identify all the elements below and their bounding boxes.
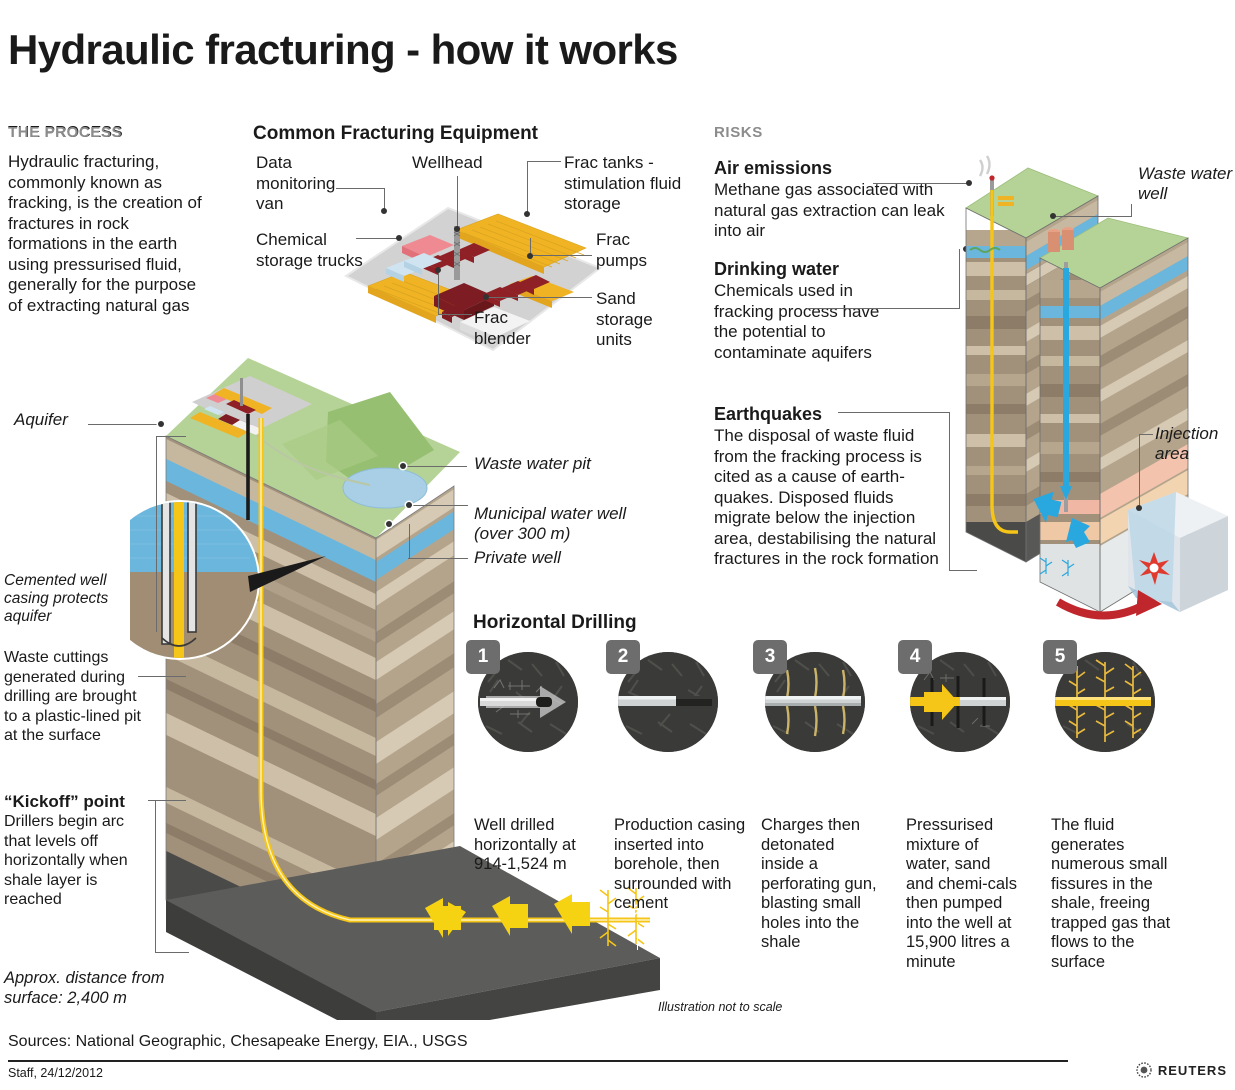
step-caption-4: Pressurised mixture of water, sand and c… — [906, 816, 1018, 972]
leader-dot — [386, 521, 392, 527]
label-frac-tanks: Frac tanks - stimulation fluid storage — [564, 153, 694, 215]
drilling-step-2: 2 Production casing inserted into boreho… — [606, 640, 718, 752]
leader-line — [438, 270, 439, 314]
leader-line — [88, 424, 160, 425]
step-number-badge: 1 — [466, 640, 500, 674]
leader-dot — [527, 253, 533, 259]
leader-line — [711, 922, 712, 946]
leader-line — [156, 436, 157, 632]
leader-line — [155, 952, 189, 953]
reuters-globe-icon — [1136, 1062, 1152, 1078]
page-title: Hydraulic fracturing - how it works — [8, 26, 678, 74]
leader-dot — [524, 211, 530, 217]
leader-dot — [454, 226, 460, 232]
reuters-wordmark: REUTERS — [1158, 1063, 1227, 1078]
label-aquifer: Aquifer — [14, 410, 68, 430]
leader-line — [408, 558, 468, 559]
equipment-heading: Common Fracturing Equipment — [253, 123, 538, 145]
leader-line — [1131, 204, 1132, 217]
process-heading: THE PROCESS — [8, 124, 122, 141]
step-number-badge: 2 — [606, 640, 640, 674]
step-number-badge: 4 — [898, 640, 932, 674]
leader-line — [527, 161, 561, 162]
leader-dot — [158, 421, 164, 427]
leader-dot — [381, 208, 387, 214]
leader-line — [486, 297, 592, 298]
label-chemical-storage-trucks: Chemical storage trucks — [256, 230, 366, 271]
risks-heading: RISKS — [714, 124, 763, 141]
leader-dot — [400, 463, 406, 469]
leader-line — [409, 524, 410, 559]
risk-body-drinking-water: Chemicals used in fracking process have … — [714, 281, 890, 363]
label-waste-water-pit: Waste water pit — [474, 454, 591, 474]
leader-line — [356, 238, 398, 239]
leader-line — [156, 436, 186, 437]
leader-line — [530, 255, 592, 256]
leader-line — [1053, 216, 1131, 217]
staff-line: Staff, 24/12/2012 — [8, 1066, 103, 1080]
step-caption-5: The fluid generates numerous small fissu… — [1051, 816, 1173, 972]
step-caption-3: Charges then detonated inside a perforat… — [761, 816, 877, 953]
label-frac-pumps: Frac pumps — [596, 230, 682, 271]
leader-dot — [1050, 213, 1056, 219]
leader-line — [384, 188, 385, 210]
leader-line — [838, 412, 950, 413]
sources-line: Sources: National Geographic, Chesapeake… — [8, 1033, 468, 1051]
leader-line — [155, 800, 156, 952]
label-kickoff-body: Drillers begin arc that levels off horiz… — [4, 812, 154, 910]
drilling-step-1: 1 Well drilled horizontally at 914-1,52 — [466, 640, 578, 752]
step-caption-2: Production casing inserted into borehole… — [614, 816, 754, 914]
step-number-badge: 3 — [753, 640, 787, 674]
risk-body-earthquakes: The disposal of waste fluid from the fra… — [714, 426, 952, 570]
leader-line — [1139, 434, 1140, 508]
leader-line — [336, 188, 384, 189]
label-waste-cuttings: Waste cuttings generated during drilling… — [4, 648, 154, 746]
leader-dot — [1136, 505, 1142, 511]
leader-line — [405, 466, 467, 467]
label-injection-area: Injection area — [1155, 424, 1233, 464]
drilling-step-5: 5 — [1043, 640, 1155, 752]
leader-line — [807, 308, 960, 309]
label-wellhead: Wellhead — [412, 153, 483, 174]
risks-geology-illustration — [940, 150, 1235, 635]
label-municipal-water-well: Municipal water well (over 300 m) — [474, 504, 664, 544]
drilling-step-3: 3 Charges then detonated inside a perfor… — [753, 640, 865, 752]
leader-line — [412, 505, 468, 506]
leader-dot — [396, 235, 402, 241]
label-kickoff-title: “Kickoff” point — [4, 792, 125, 812]
leader-line — [457, 176, 458, 228]
label-data-monitoring-van: Data monitoring van — [256, 153, 366, 215]
step-caption-1: Well drilled horizontally at 914-1,524 m — [474, 816, 592, 875]
reuters-logo: REUTERS — [1136, 1062, 1227, 1078]
leader-line — [138, 676, 186, 677]
label-private-well: Private well — [474, 548, 561, 568]
main-geology-illustration — [130, 340, 660, 1025]
leader-dot — [406, 502, 412, 508]
risk-body-air-emissions: Methane gas associated with natural gas … — [714, 180, 952, 242]
leader-line — [1139, 434, 1153, 435]
leader-line — [438, 314, 472, 315]
footer-divider — [8, 1060, 1068, 1062]
equipment-site-illustration — [338, 190, 608, 360]
horizontal-drilling-heading: Horizontal Drilling — [473, 612, 637, 634]
risk-title-earthquakes: Earthquakes — [714, 404, 822, 425]
leader-dot — [483, 294, 489, 300]
risk-title-air-emissions: Air emissions — [714, 158, 832, 179]
step-number-badge: 5 — [1043, 640, 1077, 674]
leader-dot — [435, 267, 441, 273]
risk-title-drinking-water: Drinking water — [714, 259, 839, 280]
process-body: Hydraulic fracturing, commonly known as … — [8, 152, 208, 316]
label-waste-water-well: Waste water well — [1138, 164, 1233, 204]
leader-line — [148, 800, 186, 801]
label-cemented-well-casing: Cemented well casing protects aquifer — [4, 572, 134, 626]
label-approx-distance: Approx. distance from surface: 2,400 m — [4, 968, 204, 1008]
leader-line — [637, 922, 638, 950]
drilling-step-4: 4 Pressurised mixt — [898, 640, 1010, 752]
label-illustration-not-to-scale: Illustration not to scale — [658, 1000, 782, 1014]
leader-line — [527, 161, 528, 213]
